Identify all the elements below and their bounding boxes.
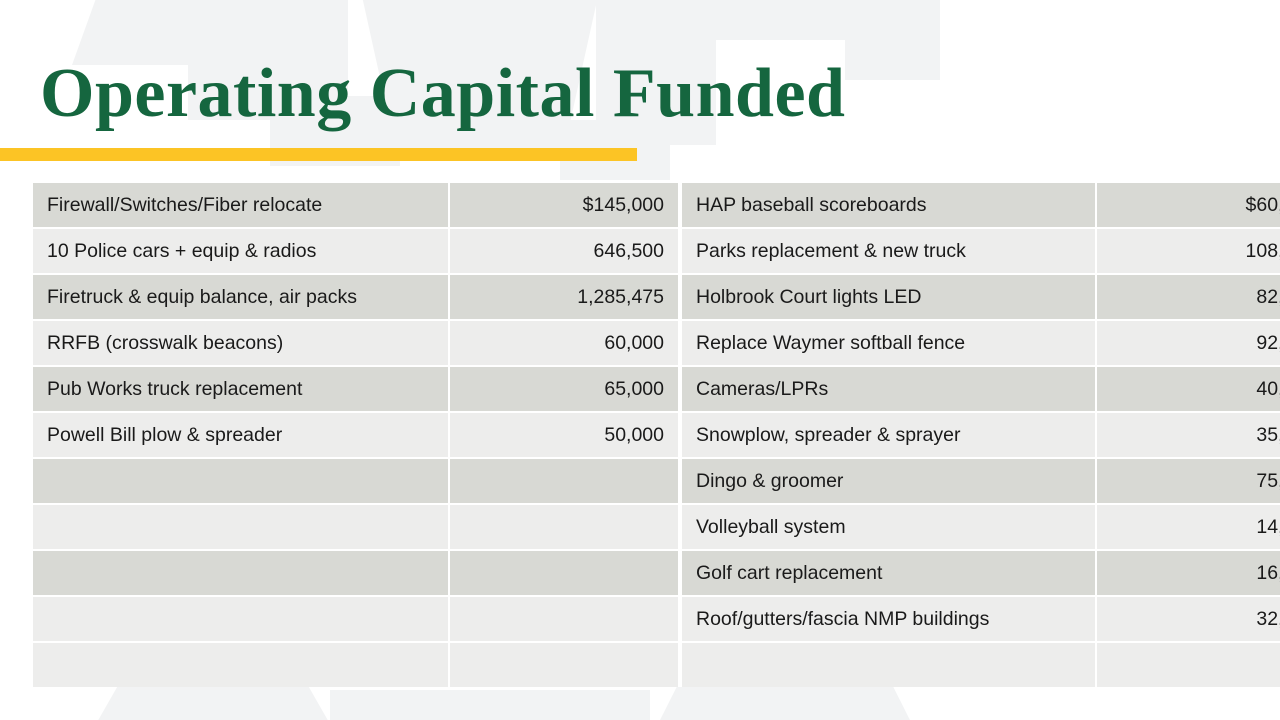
left-item-description: Pub Works truck replacement [33,366,449,412]
right-item-description [680,642,1096,687]
right-item-amount [1096,642,1280,687]
table-row: Volleyball system 14,000 [33,504,1280,550]
left-item-description: Firewall/Switches/Fiber relocate [33,183,449,228]
left-item-description [33,504,449,550]
left-item-description: 10 Police cars + equip & radios [33,228,449,274]
table-row: Pub Works truck replacement 65,000 Camer… [33,366,1280,412]
left-item-amount [449,596,680,642]
right-item-amount: 75,000 [1096,458,1280,504]
left-item-amount [449,642,680,687]
table-row: Roof/gutters/fascia NMP buildings 32,000 [33,596,1280,642]
left-item-amount [449,550,680,596]
left-item-amount [449,504,680,550]
left-item-amount: 1,285,475 [449,274,680,320]
right-item-description: Snowplow, spreader & sprayer [680,412,1096,458]
right-item-description: Holbrook Court lights LED [680,274,1096,320]
left-item-description [33,642,449,687]
left-item-description: RRFB (crosswalk beacons) [33,320,449,366]
right-item-amount: 32,000 [1096,596,1280,642]
left-item-amount: 646,500 [449,228,680,274]
table-row: Firetruck & equip balance, air packs 1,2… [33,274,1280,320]
right-item-amount: 14,000 [1096,504,1280,550]
right-item-amount: 16,000 [1096,550,1280,596]
right-item-description: Dingo & groomer [680,458,1096,504]
left-item-description [33,550,449,596]
background-watermark-shape [845,0,940,80]
right-item-description: Roof/gutters/fascia NMP buildings [680,596,1096,642]
table-row: 10 Police cars + equip & radios 646,500 … [33,228,1280,274]
right-item-description: Volleyball system [680,504,1096,550]
left-item-description: Firetruck & equip balance, air packs [33,274,449,320]
right-item-description: Golf cart replacement [680,550,1096,596]
slide-canvas: Operating Capital Funded Firewall/Switch… [0,0,1280,720]
left-item-description [33,458,449,504]
background-watermark-shape [330,690,650,720]
right-item-amount: 35,000 [1096,412,1280,458]
right-item-description: HAP baseball scoreboards [680,183,1096,228]
right-item-amount: 108,000 [1096,228,1280,274]
right-item-amount: 40,000 [1096,366,1280,412]
left-item-description: Powell Bill plow & spreader [33,412,449,458]
right-item-description: Replace Waymer softball fence [680,320,1096,366]
capital-items-table-body: Firewall/Switches/Fiber relocate $145,00… [33,183,1280,687]
right-item-amount: 92,000 [1096,320,1280,366]
title-accent-rule [0,148,637,161]
right-item-amount: $60,000 [1096,183,1280,228]
slide-title: Operating Capital Funded [40,52,845,136]
left-item-description [33,596,449,642]
table-row: Powell Bill plow & spreader 50,000 Snowp… [33,412,1280,458]
left-item-amount: $145,000 [449,183,680,228]
left-item-amount: 65,000 [449,366,680,412]
right-item-description: Cameras/LPRs [680,366,1096,412]
table-row [33,642,1280,687]
table-row: Dingo & groomer 75,000 [33,458,1280,504]
left-item-amount [449,458,680,504]
left-item-amount: 50,000 [449,412,680,458]
background-watermark-shape [716,0,846,40]
table-row: RRFB (crosswalk beacons) 60,000 Replace … [33,320,1280,366]
right-item-description: Parks replacement & new truck [680,228,1096,274]
left-item-amount: 60,000 [449,320,680,366]
table-row: Firewall/Switches/Fiber relocate $145,00… [33,183,1280,228]
right-item-amount: 82,000 [1096,274,1280,320]
capital-items-table: Firewall/Switches/Fiber relocate $145,00… [33,183,1280,687]
table-row: Golf cart replacement 16,000 [33,550,1280,596]
